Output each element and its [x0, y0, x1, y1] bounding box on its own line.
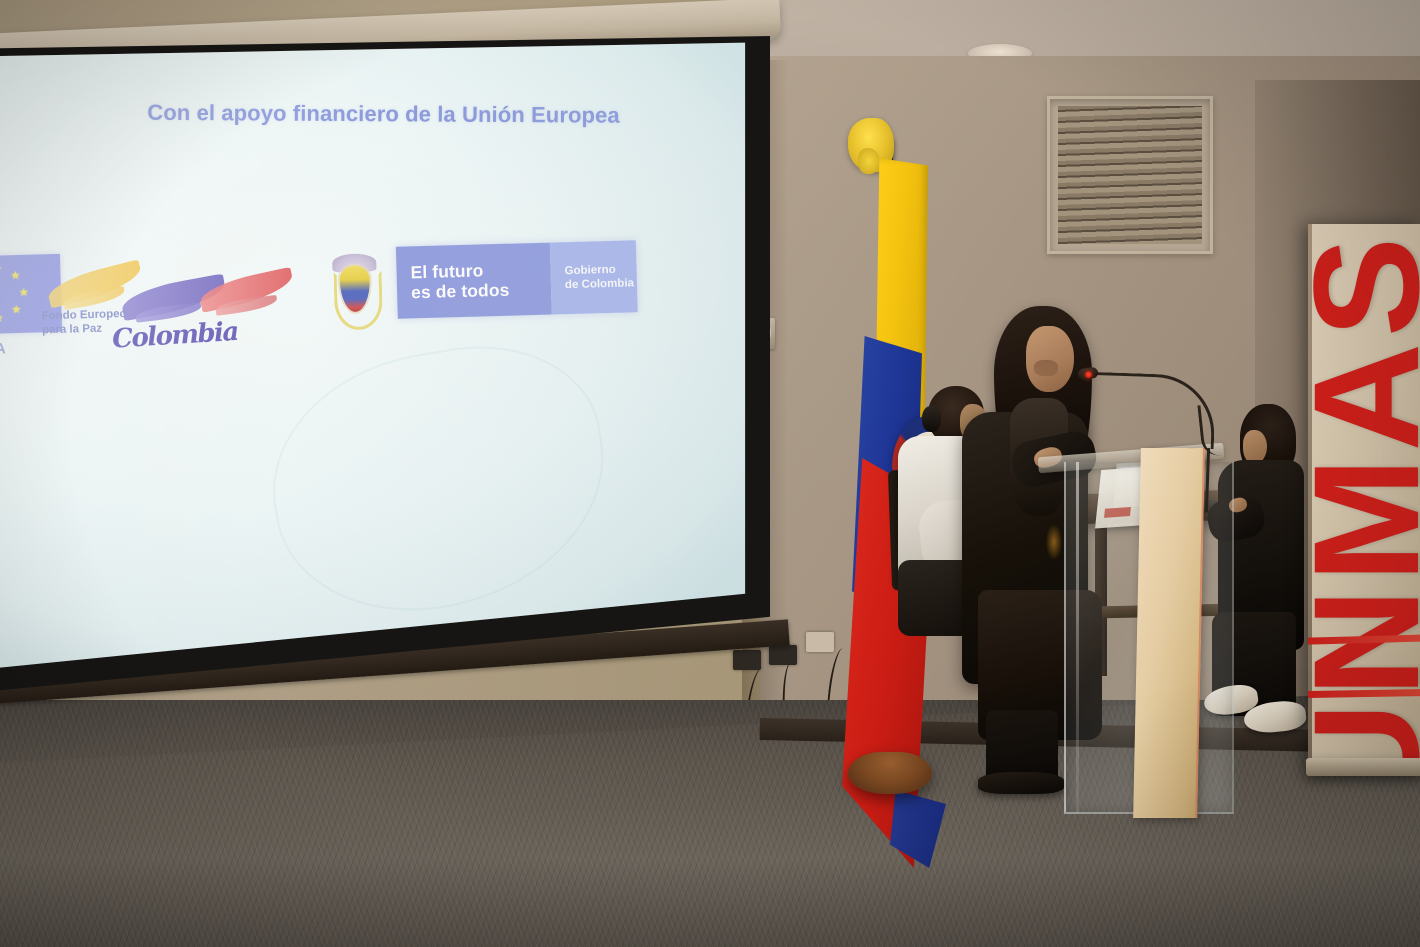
- vent-louvers: [1058, 106, 1202, 244]
- slide-logo-row: ★ ★ ★ ★ ★ ★ ★ ★ ★ ★ ★ ★ UROPEA: [0, 228, 779, 370]
- gobierno-slogan-block: El futuro es de todos: [396, 243, 552, 319]
- gobierno-de-colombia-logo: El futuro es de todos Gobierno de Colomb…: [324, 232, 647, 351]
- microphone-led-indicator: [1085, 371, 1092, 378]
- gobierno-band: El futuro es de todos Gobierno de Colomb…: [396, 240, 638, 318]
- podium-front-panel: [1133, 448, 1205, 818]
- speaker-face: [1026, 326, 1074, 392]
- gobierno-entity-block: Gobierno de Colombia: [550, 240, 638, 314]
- slide-title: Con el apoyo financiero de la Unión Euro…: [147, 100, 667, 129]
- speaker-shoes: [978, 772, 1064, 794]
- colombia-coat-of-arms-icon: [332, 249, 378, 328]
- gobierno-slogan: El futuro es de todos: [410, 260, 509, 303]
- air-vent-icon: [1047, 96, 1213, 254]
- colombia-script-wordmark: Colombia: [111, 317, 238, 355]
- banner-stand-base: [1306, 758, 1420, 776]
- wall-outlet[interactable]: [806, 632, 834, 652]
- unmas-rollup-banner: UNMAS www.unmas.o: [1308, 224, 1420, 772]
- photo-scene: Con el apoyo financiero de la Unión Euro…: [0, 0, 1420, 947]
- projection-screen: Con el apoyo financiero de la Unión Euro…: [0, 36, 770, 696]
- headphones-icon: [922, 406, 941, 432]
- seated-woman-face: [1243, 430, 1267, 464]
- slide-watermark: [253, 327, 625, 633]
- fondo-europeo-para-la-paz-logo: Fondo Europeo para la Paz Colombia: [38, 256, 291, 363]
- gobierno-entity: Gobierno de Colombia: [564, 262, 634, 292]
- slide-content: Con el apoyo financiero de la Unión Euro…: [0, 14, 788, 696]
- flag-stand-base: [848, 752, 932, 794]
